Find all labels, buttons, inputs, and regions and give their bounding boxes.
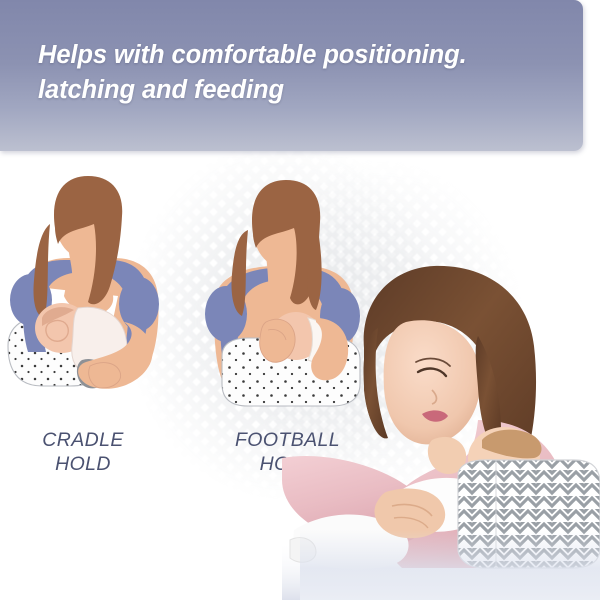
mother-face-photo [384, 320, 481, 444]
photo-floor-gradient [300, 530, 600, 600]
header-banner: Helps with comfortable positioning. latc… [0, 0, 583, 151]
mother-hand-cradle [89, 363, 121, 388]
product-feature-image: Helps with comfortable positioning. latc… [0, 0, 600, 600]
cradle-hold-illustration [6, 168, 196, 418]
cradle-hold-label: CRADLE HOLD [8, 428, 158, 476]
shirt-sleeve-right-cradle [119, 277, 159, 331]
header-title: Helps with comfortable positioning. latc… [38, 38, 558, 108]
